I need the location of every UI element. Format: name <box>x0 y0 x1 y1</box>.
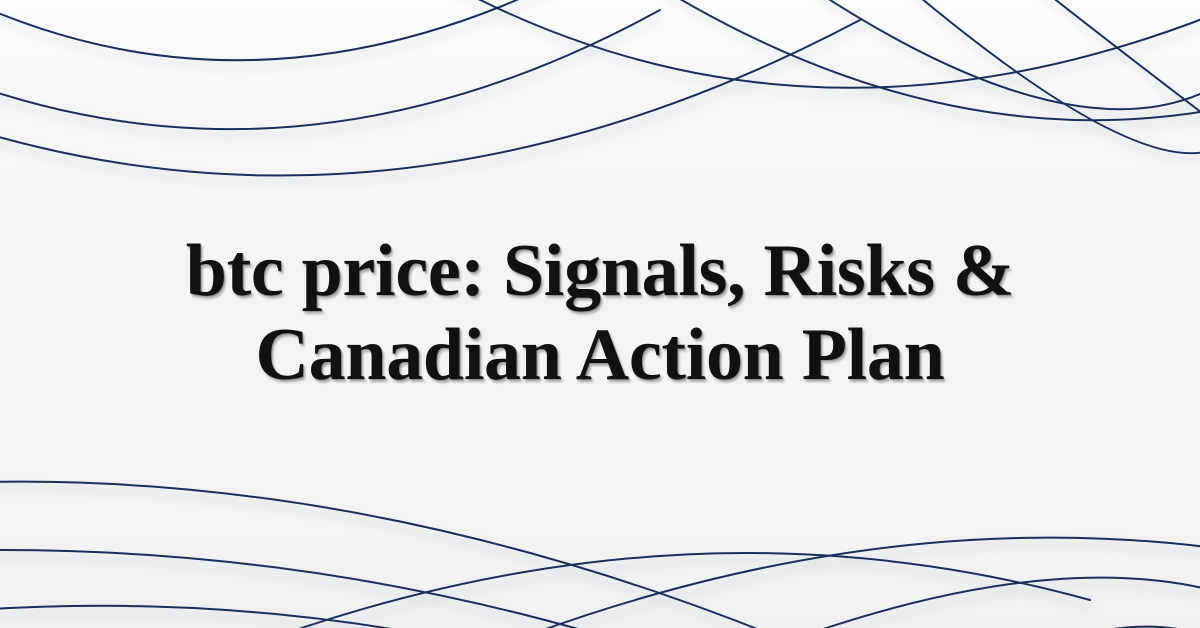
page-title: btc price: Signals, Risks & Canadian Act… <box>160 230 1040 397</box>
title-container: btc price: Signals, Risks & Canadian Act… <box>0 0 1200 628</box>
og-card: btc price: Signals, Risks & Canadian Act… <box>0 0 1200 628</box>
